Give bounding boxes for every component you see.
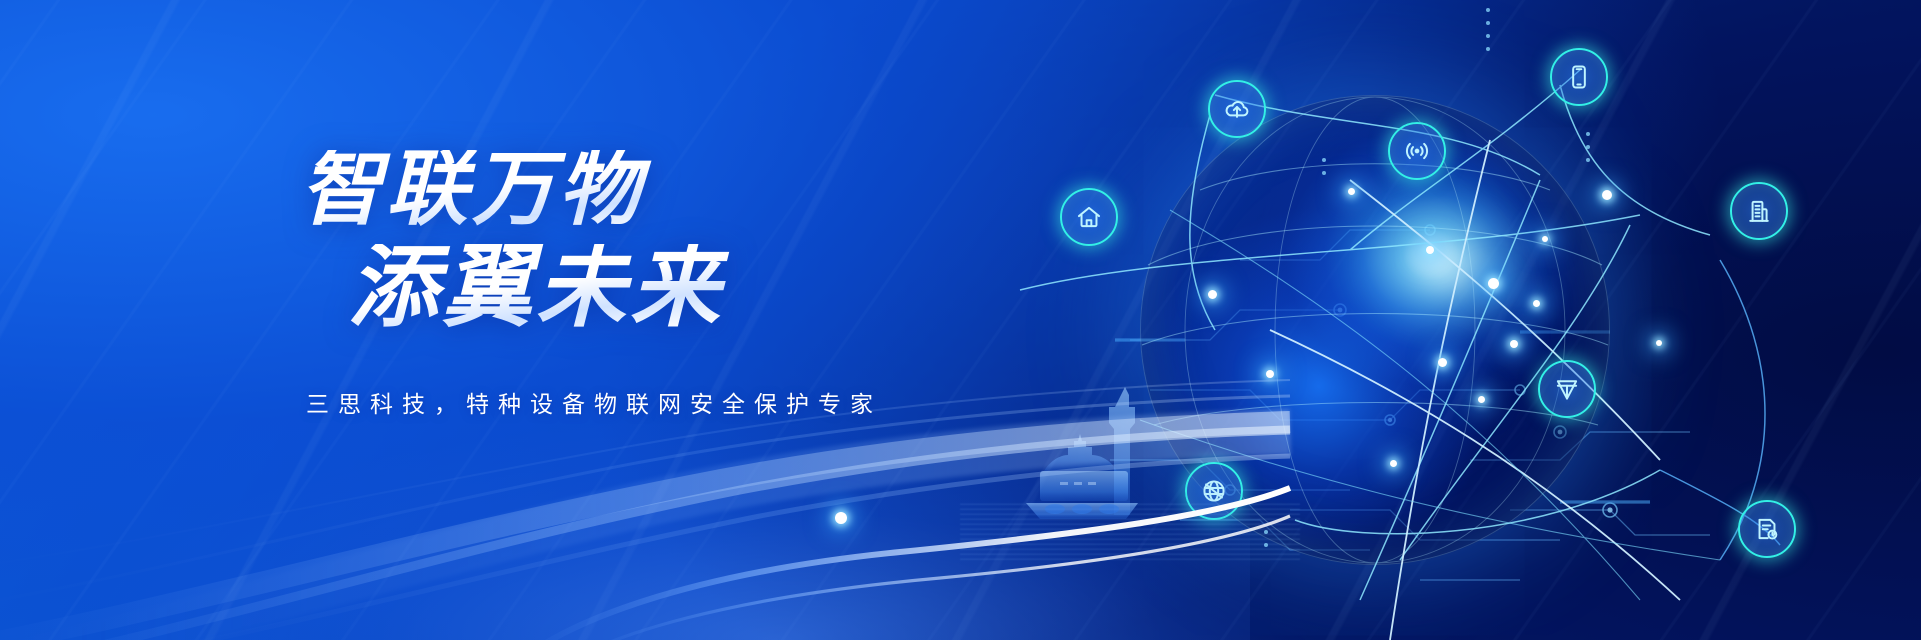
- wifi-signal-icon-node[interactable]: [1388, 122, 1446, 180]
- home-icon: [1075, 203, 1103, 231]
- network-connection-arcs: [1020, 0, 1800, 640]
- cloud-upload-icon: [1223, 95, 1251, 123]
- cloud-upload-icon-node[interactable]: [1208, 80, 1266, 138]
- glow-node-dot: [1348, 188, 1355, 195]
- wifi-signal-icon: [1403, 137, 1431, 165]
- globe-network-icon-node[interactable]: [1185, 462, 1243, 520]
- mobile-phone-icon: [1565, 63, 1593, 91]
- network-globe-graphic: [1090, 40, 1710, 600]
- glow-node-dot: [1510, 340, 1518, 348]
- glow-node-dot: [1542, 236, 1548, 242]
- hero-banner: 智联万物 添翼未来 三思科技，特种设备物联网安全保护专家: [0, 0, 1921, 640]
- subtitle-text: 三思科技，特种设备物联网安全保护专家: [306, 385, 1020, 419]
- home-icon-node[interactable]: [1060, 188, 1118, 246]
- building-icon-node[interactable]: [1730, 182, 1788, 240]
- globe-network-icon: [1200, 477, 1228, 505]
- headline-line-2: 添翼未来: [348, 244, 1020, 332]
- glow-node-dot: [1488, 278, 1499, 289]
- building-icon: [1745, 197, 1773, 225]
- shield-icon: [1553, 375, 1581, 403]
- glow-node-dot: [1656, 340, 1662, 346]
- glow-node-dot: [1602, 190, 1612, 200]
- glow-node-dot: [1426, 246, 1434, 254]
- glow-node-dot: [1478, 396, 1485, 403]
- glow-node-dot: [1438, 358, 1447, 367]
- trail-spark-dot: [835, 512, 847, 524]
- report-doc-icon-node[interactable]: [1738, 500, 1796, 558]
- glow-node-dot: [1533, 300, 1540, 307]
- headline-block: 智联万物 添翼未来 三思科技，特种设备物联网安全保护专家: [300, 150, 1020, 419]
- glow-node-dot: [1208, 290, 1217, 299]
- mobile-phone-icon-node[interactable]: [1550, 48, 1608, 106]
- headline-line-1: 智联万物: [300, 150, 1020, 230]
- glow-node-dot: [1266, 370, 1274, 378]
- report-doc-icon: [1753, 515, 1781, 543]
- shield-icon-node[interactable]: [1538, 360, 1596, 418]
- glow-node-dot: [1390, 460, 1397, 467]
